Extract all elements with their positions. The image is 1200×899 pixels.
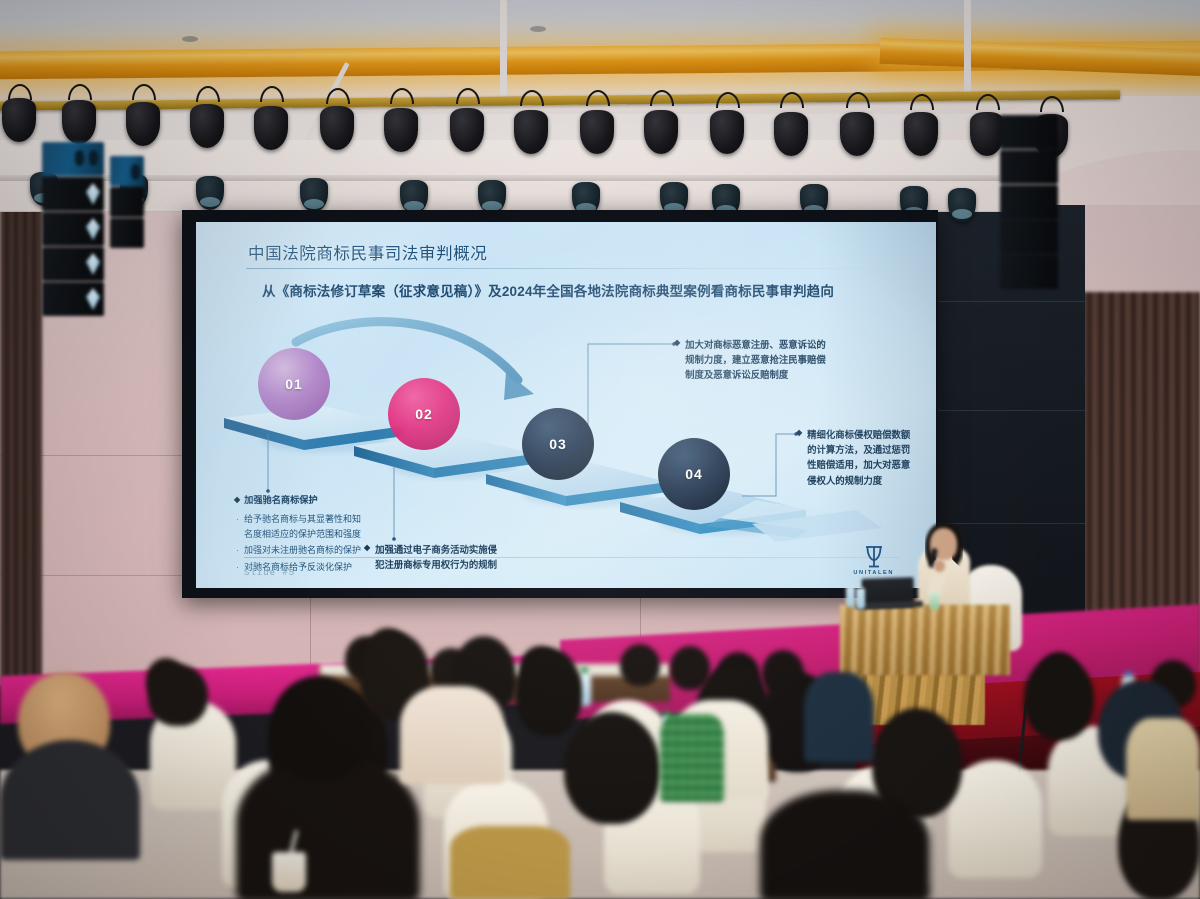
callout-step1-heading: ◆ 加强驰名商标保护: [234, 494, 434, 508]
line-array-speaker-left: [42, 142, 104, 317]
dot-bullet-icon: ·: [236, 543, 239, 558]
downlight: [530, 26, 546, 32]
ceiling-pipe: [500, 0, 507, 98]
conference-hall-photo: 中国法院商标民事司法审判概况 从《商标法修订草案（征求意见稿）》及2024年全国…: [0, 0, 1200, 899]
callout-step4: ◆ 精细化商标侵权赔偿数额 的计算方法，及通过惩罚 性赔偿适用，加大对恶意 侵权…: [796, 427, 936, 488]
dot-bullet-icon: ·: [236, 512, 239, 542]
diamond-bullet-icon: ◆: [674, 337, 680, 383]
unitalen-logo: UNITALEN: [853, 545, 894, 576]
wood-slat-wall-left: [0, 150, 42, 690]
water-bottle: [856, 588, 865, 609]
audience-person-dark-top: [804, 672, 874, 762]
callout-step3: ◆ 加大对商标恶意注册、恶意诉讼的 规制力度，建立恶意抢注民事赔偿 制度及恶意诉…: [674, 337, 914, 383]
callout-step1-sub-1: · 给予驰名商标与其显著性和知 名度相适应的保护范围和强度: [236, 512, 434, 542]
slide-subtitle: 从《商标法修订草案（征求意见稿）》及2024年全国各地法院商标典型案例看商标民事…: [262, 280, 834, 300]
audience-person-shirt: [0, 740, 140, 860]
audience-person-beige-shirt: [400, 686, 504, 784]
step-label-03: 03: [538, 428, 578, 460]
audience-person: [270, 676, 366, 780]
dot-bullet-icon: ·: [236, 560, 239, 575]
drink-cup: [272, 852, 306, 892]
step-label-04: 04: [674, 458, 714, 490]
step-label-01: 01: [274, 368, 314, 400]
audience-person: [620, 644, 660, 686]
audience-person-gold-top: [450, 826, 570, 899]
downlight: [182, 36, 198, 42]
footer-divider: [244, 557, 899, 558]
diamond-bullet-icon: ◆: [234, 494, 240, 507]
slide-number: Slide #5: [244, 568, 295, 578]
line-array-speaker-left-inner: [110, 156, 144, 249]
title-divider: [246, 268, 886, 269]
slide-title: 中国法院商标民事司法审判概况: [248, 240, 487, 264]
step-label-02: 02: [404, 398, 444, 430]
line-array-speaker-right: [1000, 115, 1058, 290]
diamond-bullet-icon: ◆: [796, 427, 802, 488]
unitalen-logo-text: UNITALEN: [853, 570, 894, 576]
presenter-table-cloth: [840, 605, 1010, 675]
unitalen-logo-mark: [853, 545, 894, 569]
presenter-hand: [934, 560, 945, 572]
audience-person: [1024, 656, 1094, 740]
green-bottle: [930, 592, 939, 610]
audience-person-plaid-shirt: [660, 714, 724, 802]
ceiling-pipe: [964, 0, 971, 96]
audience-person: [564, 712, 660, 824]
water-bottle: [846, 586, 855, 607]
audience-person-tan-jacket: [1126, 718, 1200, 820]
projection-screen[interactable]: 中国法院商标民事司法审判概况 从《商标法修订草案（征求意见稿）》及2024年全国…: [196, 222, 936, 588]
chair: [948, 760, 1042, 878]
audience-person: [148, 664, 208, 726]
audience-person-front: [760, 790, 930, 899]
audience-person: [516, 648, 582, 736]
